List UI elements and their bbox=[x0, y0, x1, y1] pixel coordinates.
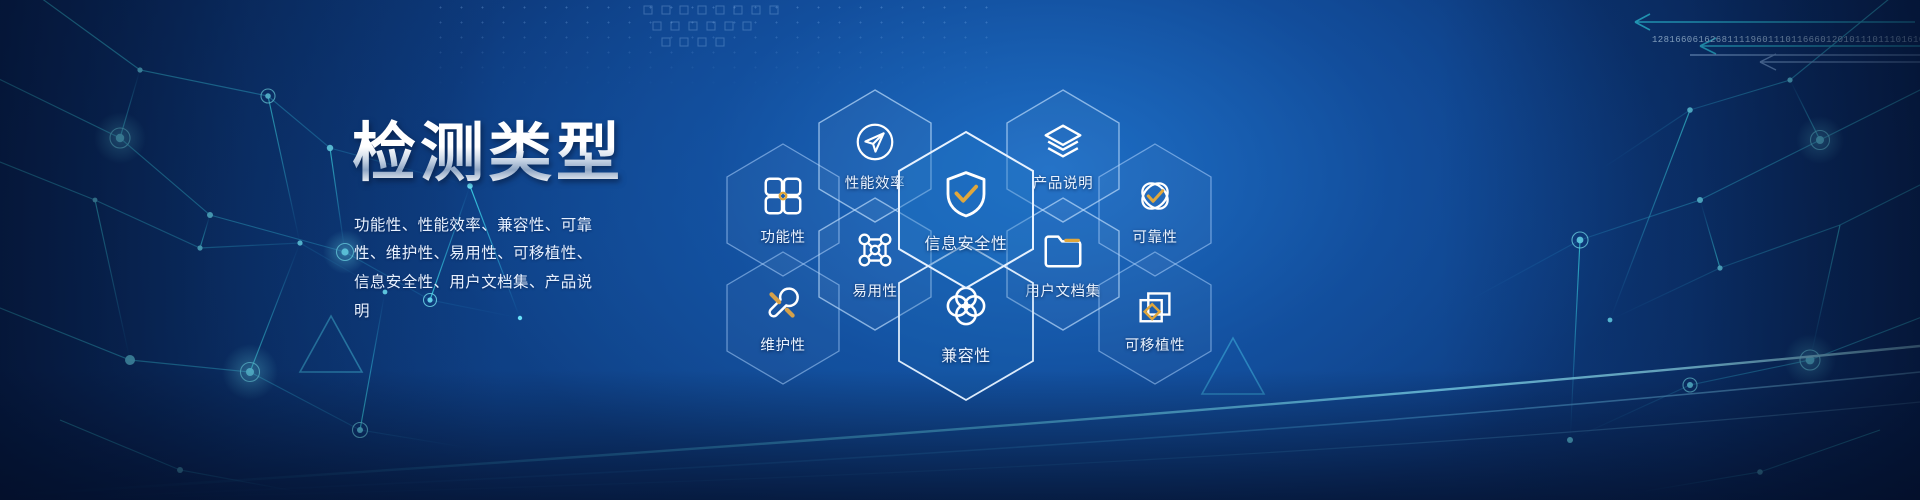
wrench-screwdriver-icon bbox=[760, 281, 806, 327]
banner-content: 检测类型 功能性、性能效率、兼容性、可靠性、维护性、易用性、可移植性、信息安全性… bbox=[0, 0, 1920, 500]
overlapping-squares-diamond-icon bbox=[1132, 281, 1178, 327]
hex-label: 功能性 bbox=[760, 226, 805, 247]
hex-tile-security[interactable]: 信息安全性 bbox=[896, 130, 1036, 290]
hex-label: 可靠性 bbox=[1132, 226, 1177, 247]
banner-root: 1281660616268111196011101166601201011101… bbox=[0, 0, 1920, 500]
folder-icon bbox=[1040, 227, 1086, 273]
hexagon-cluster: 功能性 性能效率 bbox=[700, 46, 1240, 366]
stacked-layers-icon bbox=[1040, 119, 1086, 165]
hex-label: 产品说明 bbox=[1033, 172, 1093, 193]
page-subtitle: 功能性、性能效率、兼容性、可靠性、维护性、易用性、可移植性、信息安全性、用户文档… bbox=[354, 212, 596, 327]
connected-nodes-icon bbox=[852, 227, 898, 273]
hex-label: 维护性 bbox=[760, 334, 805, 355]
four-rounded-squares-icon bbox=[760, 173, 806, 219]
orbit-check-icon bbox=[1132, 173, 1178, 219]
hex-label: 易用性 bbox=[852, 280, 897, 301]
shield-check-icon bbox=[939, 167, 993, 221]
hex-tile-maintainability[interactable]: 维护性 bbox=[724, 250, 842, 386]
hex-tile-portability[interactable]: 可移植性 bbox=[1096, 250, 1214, 386]
hex-label: 兼容性 bbox=[941, 342, 991, 366]
page-title: 检测类型 bbox=[352, 118, 652, 190]
hex-label: 用户文档集 bbox=[1025, 280, 1101, 301]
hex-label: 信息安全性 bbox=[924, 230, 1007, 254]
headline-block: 检测类型 功能性、性能效率、兼容性、可靠性、维护性、易用性、可移植性、信息安全性… bbox=[352, 118, 652, 326]
hex-label: 可移植性 bbox=[1125, 334, 1185, 355]
paper-plane-icon bbox=[852, 119, 898, 165]
